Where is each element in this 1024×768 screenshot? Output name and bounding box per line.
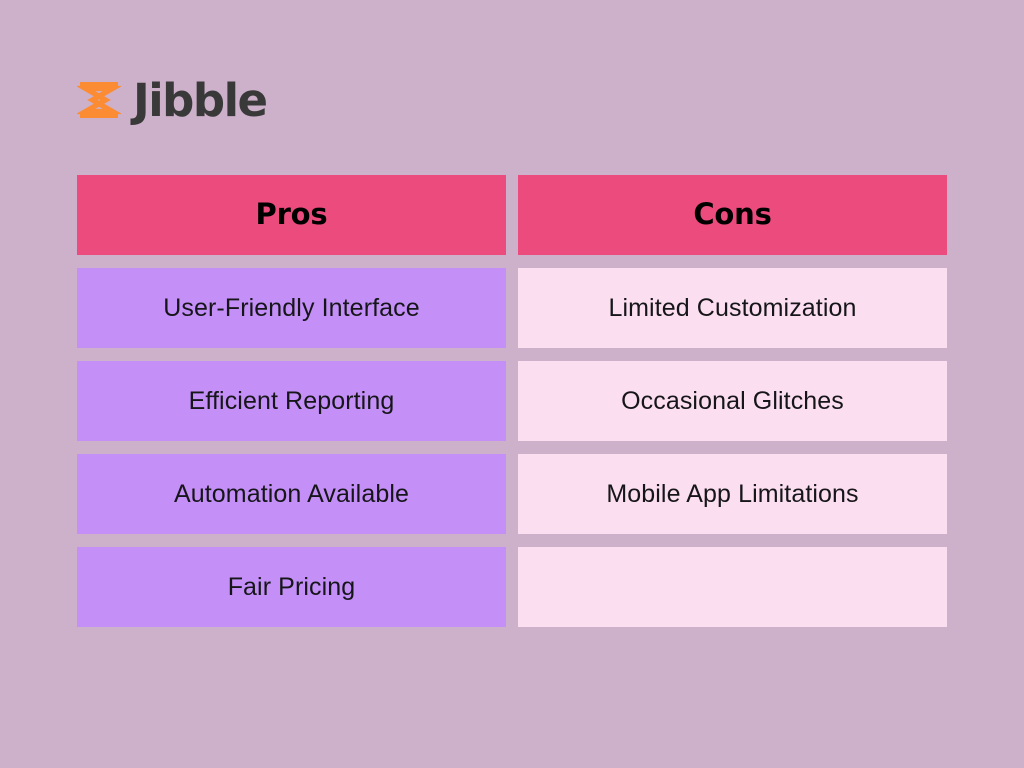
pros-cell: Automation Available [77, 454, 506, 534]
table-row: Efficient Reporting Occasional Glitches [77, 361, 947, 441]
cons-cell: Mobile App Limitations [518, 454, 947, 534]
pros-cell-label: User-Friendly Interface [163, 293, 420, 323]
pros-cell-label: Fair Pricing [228, 572, 356, 602]
pros-cell: Fair Pricing [77, 547, 506, 627]
pros-cell-label: Efficient Reporting [189, 386, 395, 416]
pros-cell-label: Automation Available [174, 479, 409, 509]
column-header-cons-label: Cons [693, 199, 771, 231]
column-header-pros: Pros [77, 175, 506, 255]
brand-name: Jibble [133, 78, 267, 123]
pros-cell: User-Friendly Interface [77, 268, 506, 348]
cons-cell-empty [518, 547, 947, 627]
column-header-cons: Cons [518, 175, 947, 255]
table-row: Automation Available Mobile App Limitati… [77, 454, 947, 534]
cons-cell: Occasional Glitches [518, 361, 947, 441]
pros-cell: Efficient Reporting [77, 361, 506, 441]
hourglass-icon [77, 78, 121, 122]
table-header-row: Pros Cons [77, 175, 947, 255]
table-row: Fair Pricing [77, 547, 947, 627]
column-header-pros-label: Pros [256, 199, 328, 231]
cons-cell: Limited Customization [518, 268, 947, 348]
pros-cons-table: Pros Cons User-Friendly Interface Limite… [77, 175, 947, 627]
cons-cell-label: Occasional Glitches [621, 386, 844, 416]
table-row: User-Friendly Interface Limited Customiz… [77, 268, 947, 348]
slide-canvas: Jibble Pros Cons User-Friendly Interface… [0, 0, 1024, 768]
cons-cell-label: Mobile App Limitations [606, 479, 858, 509]
cons-cell-label: Limited Customization [608, 293, 856, 323]
jibble-logo: Jibble [77, 72, 267, 128]
